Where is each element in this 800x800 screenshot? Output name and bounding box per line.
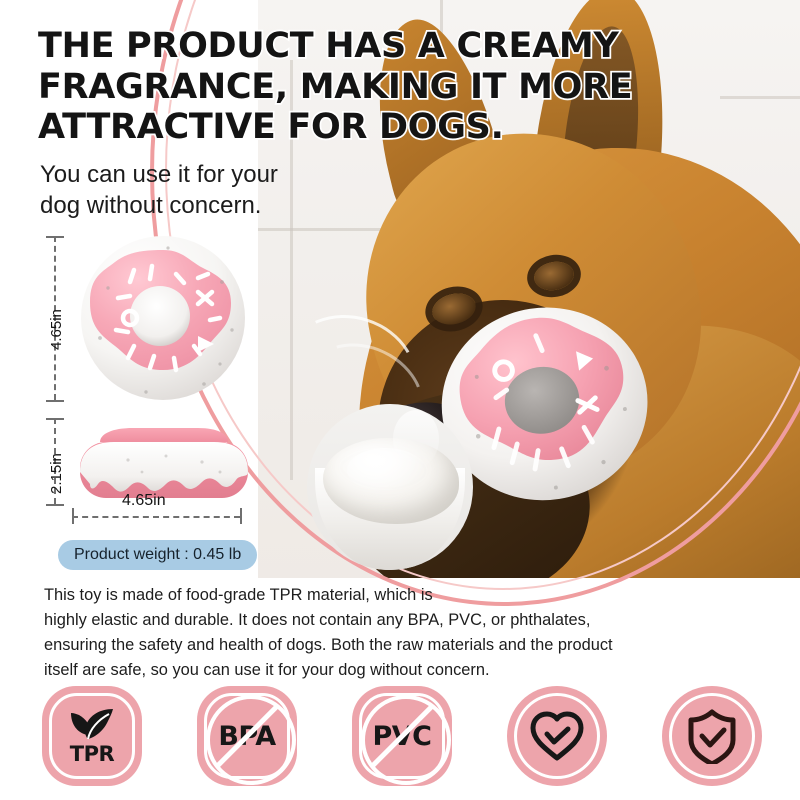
donut-top-view <box>72 234 254 402</box>
product-description: This toy is made of food-grade TPR mater… <box>44 583 774 683</box>
prohibition-circle-icon <box>361 695 451 785</box>
subheadline-line-2: dog without concern. <box>40 191 390 222</box>
dim-label-width: 4.65in <box>122 492 166 510</box>
badge-bpa-free: BPA <box>197 686 297 786</box>
badge-heart-check <box>507 686 607 786</box>
page-subheadline: You can use it for your dog without conc… <box>40 160 390 221</box>
page-headline: THE PRODUCT HAS A CREAMY FRAGRANCE, MAKI… <box>38 26 658 148</box>
dim-tick-thickness-top <box>46 418 64 420</box>
cream-photo-inset <box>307 404 473 570</box>
description-line-3: ensuring the safety and health of dogs. … <box>44 633 774 658</box>
feature-badge-row: TPR BPA PVC <box>42 684 762 788</box>
dim-label-height: 4.65in <box>48 309 65 350</box>
badge-shield-check <box>662 686 762 786</box>
product-infographic: THE PRODUCT HAS A CREAMY FRAGRANCE, MAKI… <box>0 0 800 800</box>
prohibition-circle-icon <box>206 695 296 785</box>
badge-label-tpr: TPR <box>70 742 114 766</box>
badge-pvc-free: PVC <box>352 686 452 786</box>
dim-tick-width-right <box>240 508 242 524</box>
description-line-4: itself are safe, so you can use it for y… <box>44 658 774 683</box>
dim-tick-height-top <box>46 236 64 238</box>
heart-check-icon <box>528 709 586 763</box>
product-weight-badge: Product weight : 0.45 lb <box>58 540 257 570</box>
leaves-icon <box>69 707 115 741</box>
headline-line-3: ATTRACTIVE FOR DOGS. <box>38 107 658 148</box>
subheadline-line-1: You can use it for your <box>40 160 390 191</box>
dim-line-width <box>72 516 240 518</box>
dim-tick-height-bottom <box>46 400 64 402</box>
dim-label-thickness: 2.15in <box>48 453 65 494</box>
headline-line-2: FRAGRANCE, MAKING IT MORE <box>38 67 658 108</box>
dim-tick-thickness-bottom <box>46 504 64 506</box>
headline-line-1: THE PRODUCT HAS A CREAMY <box>38 26 658 67</box>
dim-tick-width-left <box>72 508 74 524</box>
cream-steam <box>393 410 439 468</box>
description-line-1: This toy is made of food-grade TPR mater… <box>44 583 774 608</box>
badge-tpr: TPR <box>42 686 142 786</box>
product-dimension-diagram: 4.65in 2.15in 4.65in <box>40 232 270 522</box>
shield-check-icon <box>686 708 738 764</box>
description-line-2: highly elastic and durable. It does not … <box>44 608 774 633</box>
